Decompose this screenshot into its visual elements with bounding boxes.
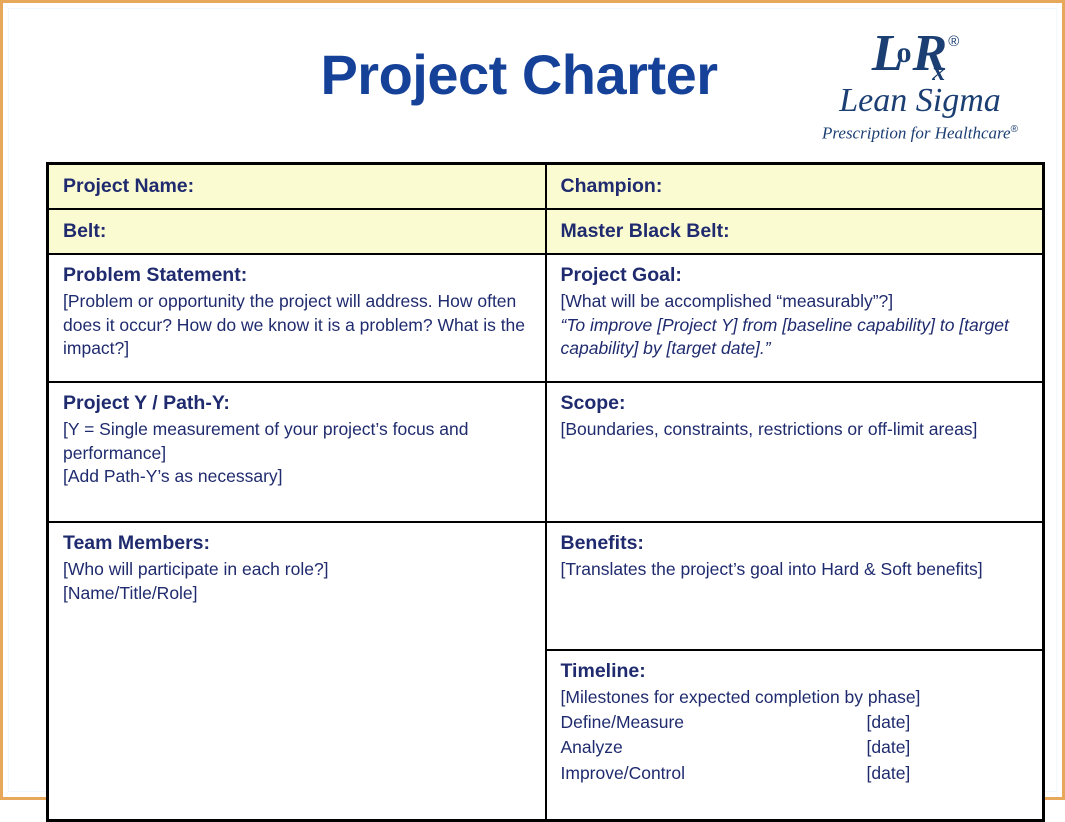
cell-project-name[interactable]: Project Name: bbox=[48, 164, 546, 210]
project-goal-quote: “To improve [Project Y] from [baseline c… bbox=[561, 314, 1031, 361]
team-members-line-2: [Name/Title/Role] bbox=[63, 582, 533, 606]
milestone-phase: Analyze bbox=[561, 735, 867, 761]
logo-tagline: Prescription for Healthcare® bbox=[800, 119, 1040, 145]
table-row-project-name: Project Name: Champion: bbox=[48, 164, 1044, 210]
team-members-heading: Team Members: bbox=[63, 531, 533, 556]
master-black-belt-label: Master Black Belt: bbox=[561, 219, 1031, 244]
milestone-date[interactable]: [date] bbox=[867, 735, 967, 761]
timeline-milestone-row: Analyze [date] bbox=[561, 735, 1031, 761]
cell-benefits[interactable]: Benefits: [Translates the project’s goal… bbox=[546, 522, 1044, 650]
cell-champion[interactable]: Champion: bbox=[546, 164, 1044, 210]
team-members-line-1: [Who will participate in each role?] bbox=[63, 558, 533, 582]
document-header: Project Charter LoRx® Lean Sigma Prescri… bbox=[9, 9, 1058, 154]
cell-belt[interactable]: Belt: bbox=[48, 209, 546, 254]
milestone-phase: Define/Measure bbox=[561, 710, 867, 736]
document-inner-frame: Project Charter LoRx® Lean Sigma Prescri… bbox=[8, 8, 1057, 792]
document-page: Project Charter LoRx® Lean Sigma Prescri… bbox=[0, 0, 1065, 800]
page-title: Project Charter bbox=[249, 47, 789, 103]
milestone-date[interactable]: [date] bbox=[867, 761, 967, 787]
benefits-heading: Benefits: bbox=[561, 531, 1031, 556]
cell-project-y[interactable]: Project Y / Path-Y: [Y = Single measurem… bbox=[48, 382, 546, 522]
belt-label: Belt: bbox=[63, 219, 533, 244]
champion-label: Champion: bbox=[561, 174, 1031, 199]
logo-letter-o: o bbox=[897, 36, 911, 69]
table-row-problem-goal: Problem Statement: [Problem or opportuni… bbox=[48, 254, 1044, 382]
cell-problem-statement[interactable]: Problem Statement: [Problem or opportuni… bbox=[48, 254, 546, 382]
project-goal-heading: Project Goal: bbox=[561, 263, 1031, 288]
cell-scope[interactable]: Scope: [Boundaries, constraints, restric… bbox=[546, 382, 1044, 522]
logo-brand-name: Lean Sigma bbox=[800, 83, 1040, 119]
problem-statement-body: [Problem or opportunity the project will… bbox=[63, 290, 533, 361]
logo-tagline-text: Prescription for Healthcare bbox=[822, 124, 1011, 143]
milestone-date[interactable]: [date] bbox=[867, 710, 967, 736]
milestone-phase: Improve/Control bbox=[561, 761, 867, 787]
logo-letter-x: x bbox=[932, 57, 944, 86]
cell-master-black-belt[interactable]: Master Black Belt: bbox=[546, 209, 1044, 254]
problem-statement-heading: Problem Statement: bbox=[63, 263, 533, 288]
timeline-body: [Milestones for expected completion by p… bbox=[561, 686, 1031, 710]
timeline-heading: Timeline: bbox=[561, 659, 1031, 684]
timeline-milestone-row: Define/Measure [date] bbox=[561, 710, 1031, 736]
registered-trademark-icon: ® bbox=[948, 33, 958, 50]
timeline-milestone-list: Define/Measure [date] Analyze [date] Imp… bbox=[561, 710, 1031, 787]
project-charter-table: Project Name: Champion: Belt: Master Bla… bbox=[46, 162, 1045, 822]
scope-heading: Scope: bbox=[561, 391, 1031, 416]
table-row-team-benefits: Team Members: [Who will participate in e… bbox=[48, 522, 1044, 650]
timeline-milestone-row: Improve/Control [date] bbox=[561, 761, 1031, 787]
project-y-line-1: [Y = Single measurement of your project’… bbox=[63, 418, 533, 465]
scope-body: [Boundaries, constraints, restrictions o… bbox=[561, 418, 1031, 442]
cell-project-goal[interactable]: Project Goal: [What will be accomplished… bbox=[546, 254, 1044, 382]
project-y-heading: Project Y / Path-Y: bbox=[63, 391, 533, 416]
logo-wordmark-icon: LoRx® bbox=[800, 27, 1040, 83]
table-row-projecty-scope: Project Y / Path-Y: [Y = Single measurem… bbox=[48, 382, 1044, 522]
cell-team-members[interactable]: Team Members: [Who will participate in e… bbox=[48, 522, 546, 821]
registered-trademark-icon-2: ® bbox=[1011, 124, 1018, 135]
project-goal-body: [What will be accomplished “measurably”?… bbox=[561, 290, 1031, 314]
project-name-label: Project Name: bbox=[63, 174, 533, 199]
benefits-body: [Translates the project’s goal into Hard… bbox=[561, 558, 1031, 582]
cell-timeline[interactable]: Timeline: [Milestones for expected compl… bbox=[546, 650, 1044, 821]
table-row-belt: Belt: Master Black Belt: bbox=[48, 209, 1044, 254]
lean-sigma-logo: LoRx® Lean Sigma Prescription for Health… bbox=[800, 27, 1040, 145]
project-y-line-2: [Add Path-Y’s as necessary] bbox=[63, 465, 533, 489]
